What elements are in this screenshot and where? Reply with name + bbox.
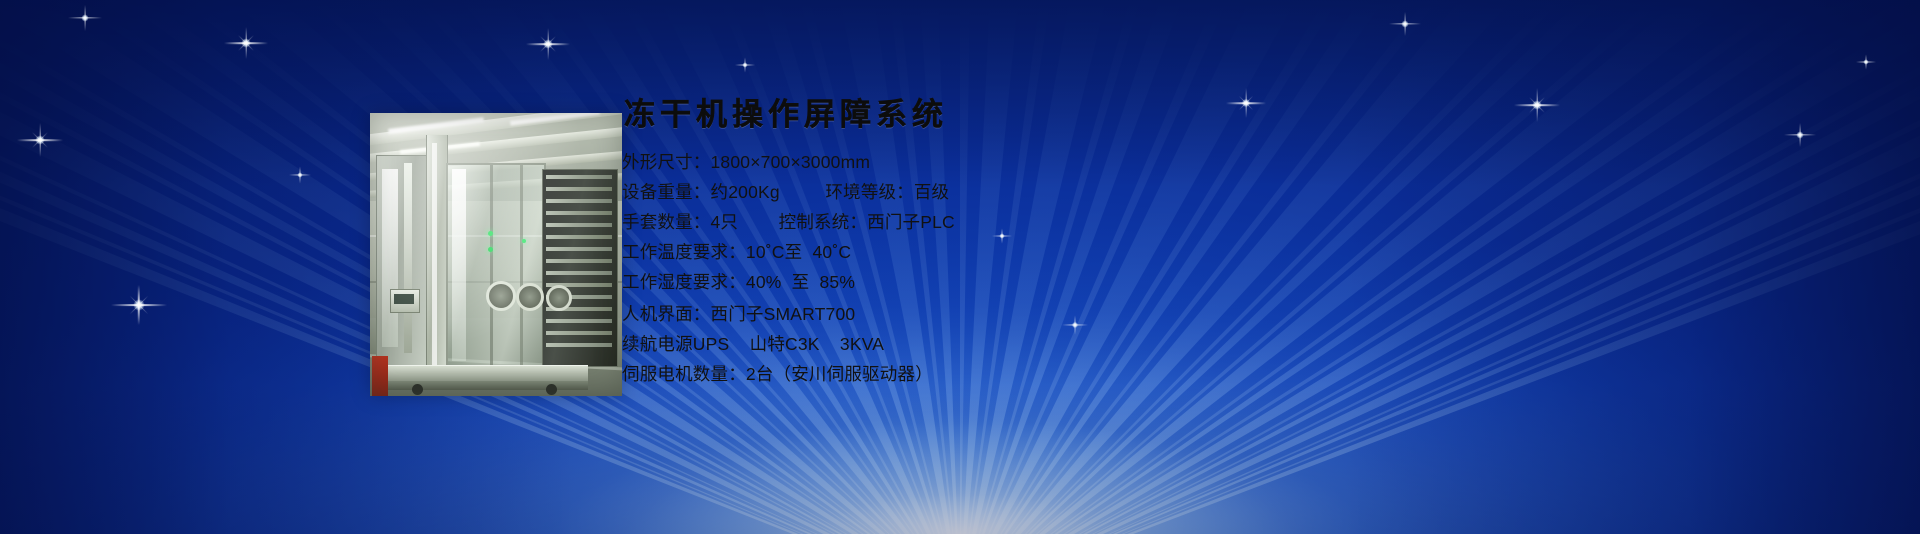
page-title: 冻干机操作屏障系统 <box>624 100 1242 131</box>
spec-line-servo-motors: 伺服电机数量：2台（安川伺服驱动器） <box>622 359 1242 389</box>
spec-line-hmi: 人机界面：西门子SMART700 <box>622 299 1242 329</box>
spec-line-dimensions: 外形尺寸：1800×700×3000mm <box>622 147 1242 177</box>
product-banner: 冻干机操作屏障系统 外形尺寸：1800×700×3000mm 设备重量：约200… <box>0 0 1920 534</box>
spec-line-humidity: 工作湿度要求：40% 至 85% <box>622 267 1242 297</box>
product-photo <box>370 113 622 396</box>
product-info-block: 冻干机操作屏障系统 外形尺寸：1800×700×3000mm 设备重量：约200… <box>622 100 1242 389</box>
spec-line-ups: 续航电源UPS 山特C3K 3KVA <box>622 329 1242 359</box>
spec-line-weight-grade: 设备重量：约200Kg 环境等级：百级 <box>622 177 1242 207</box>
spec-line-gloves-control: 手套数量：4只 控制系统：西门子PLC <box>622 207 1242 237</box>
spec-line-temperature: 工作温度要求：10˚C至 40˚C <box>622 237 1242 267</box>
